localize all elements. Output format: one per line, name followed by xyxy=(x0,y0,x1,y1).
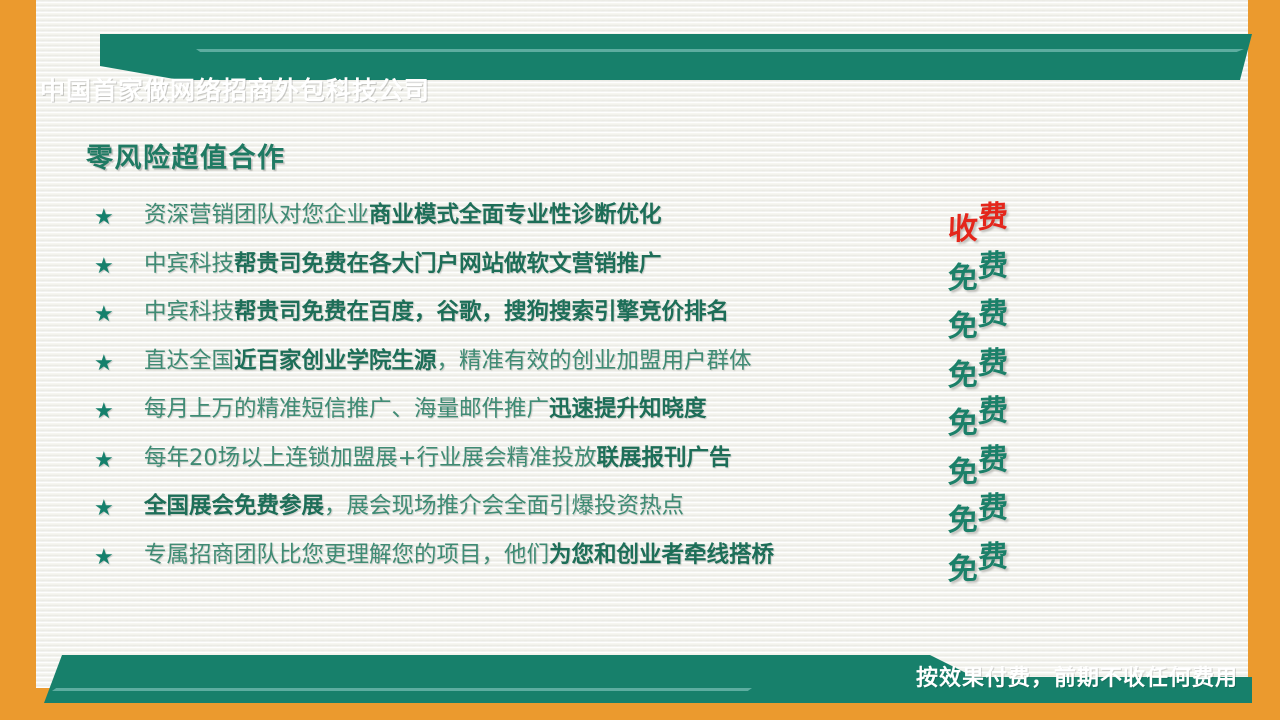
star-bullet-icon: ★ xyxy=(94,446,114,476)
text-bold-emphasis: 帮贵司免费在百度，谷歌，搜狗搜索引擎竞价排名 xyxy=(234,299,729,325)
text-normal-tail: ，展会现场推介会全面引爆投资热点 xyxy=(324,493,684,519)
list-item: ★ 直达全国近百家创业学院生源，精准有效的创业加盟用户群体 xyxy=(86,344,1086,393)
list-item: ★ 中宾科技帮贵司免费在各大门户网站做软文营销推广 xyxy=(86,247,1086,296)
text-normal-lead: 中宾科技 xyxy=(144,299,234,325)
list-item-text: 专属招商团队比您更理解您的项目，他们为您和创业者牵线搭桥 xyxy=(144,538,774,572)
price-char-second: 费 xyxy=(978,531,1009,577)
text-bold-emphasis: 帮贵司免费在各大门户网站做软文营销推广 xyxy=(234,251,662,277)
price-label-free: 免 费 xyxy=(944,338,1064,387)
list-item: ★ 全国展会免费参展，展会现场推介会全面引爆投资热点 xyxy=(86,489,1086,538)
text-bold-emphasis: 全国展会免费参展 xyxy=(144,493,324,519)
list-item: ★ 中宾科技帮贵司免费在百度，谷歌，搜狗搜索引擎竞价排名 xyxy=(86,295,1086,344)
price-label-free: 免 费 xyxy=(944,289,1064,338)
list-item-text: 中宾科技帮贵司免费在各大门户网站做软文营销推广 xyxy=(144,247,662,281)
star-bullet-icon: ★ xyxy=(94,494,114,524)
list-item-text: 直达全国近百家创业学院生源，精准有效的创业加盟用户群体 xyxy=(144,344,752,378)
price-label-free: 免 费 xyxy=(944,483,1064,532)
text-normal-tail: ，精准有效的创业加盟用户群体 xyxy=(437,348,752,374)
slide-root: 中国首家做网络招商外包科技公司 零风险超值合作 ★ 资深营销团队对您企业商业模式… xyxy=(0,0,1280,720)
text-bold-emphasis: 迅速提升知晓度 xyxy=(549,396,707,422)
list-item: ★ 每年20场以上连锁加盟展+行业展会精准投放联展报刊广告 xyxy=(86,441,1086,490)
text-bold-emphasis: 联展报刊广告 xyxy=(596,445,731,471)
list-item: ★ 专属招商团队比您更理解您的项目，他们为您和创业者牵线搭桥 xyxy=(86,538,1086,587)
list-item: ★ 资深营销团队对您企业商业模式全面专业性诊断优化 xyxy=(86,198,1086,247)
footer-accent-stripe xyxy=(52,688,752,691)
price-label-free: 免 费 xyxy=(944,386,1064,435)
text-normal-lead: 每月上万的精准短信推广、海量邮件推广 xyxy=(144,396,549,422)
section-title: 零风险超值合作 xyxy=(86,136,286,175)
list-item-text: 中宾科技帮贵司免费在百度，谷歌，搜狗搜索引擎竞价排名 xyxy=(144,295,729,329)
price-char-second: 费 xyxy=(978,482,1009,528)
price-char-second: 费 xyxy=(978,337,1009,383)
price-column: 收 费 免 费 免 费 免 费 免 费 免 费 免 费 免 费 xyxy=(944,192,1064,580)
text-bold-emphasis: 近百家创业学院生源 xyxy=(234,348,437,374)
star-bullet-icon: ★ xyxy=(94,252,114,282)
header-banner: 中国首家做网络招商外包科技公司 xyxy=(0,34,1280,80)
text-normal-lead: 直达全国 xyxy=(144,348,234,374)
price-label-free: 免 费 xyxy=(944,532,1064,581)
text-normal-lead: 中宾科技 xyxy=(144,251,234,277)
price-char-second: 费 xyxy=(978,434,1009,480)
text-bold-emphasis: 为您和创业者牵线搭桥 xyxy=(549,542,774,568)
price-char-second: 费 xyxy=(978,191,1009,237)
footer-banner: 按效果付费，前期不收任何费用 xyxy=(0,655,1280,703)
price-char-first: 免 xyxy=(947,543,979,588)
text-normal-lead: 每年20场以上连锁加盟展+行业展会精准投放 xyxy=(144,445,596,471)
price-char-second: 费 xyxy=(978,240,1009,286)
star-bullet-icon: ★ xyxy=(94,543,114,573)
header-accent-stripe xyxy=(196,49,1244,52)
star-bullet-icon: ★ xyxy=(94,349,114,379)
footer-text: 按效果付费，前期不收任何费用 xyxy=(916,659,1238,699)
star-bullet-icon: ★ xyxy=(94,397,114,427)
text-normal-lead: 资深营销团队对您企业 xyxy=(144,202,369,228)
price-label-free: 免 费 xyxy=(944,435,1064,484)
benefits-list: ★ 资深营销团队对您企业商业模式全面专业性诊断优化 ★ 中宾科技帮贵司免费在各大… xyxy=(86,198,1086,586)
list-item-text: 每月上万的精准短信推广、海量邮件推广迅速提升知晓度 xyxy=(144,392,707,426)
price-label-paid: 收 费 xyxy=(944,192,1064,241)
star-bullet-icon: ★ xyxy=(94,300,114,330)
list-item-text: 每年20场以上连锁加盟展+行业展会精准投放联展报刊广告 xyxy=(144,441,732,475)
price-label-free: 免 费 xyxy=(944,241,1064,290)
text-bold-emphasis: 商业模式全面专业性诊断优化 xyxy=(369,202,662,228)
price-char-second: 费 xyxy=(978,288,1009,334)
price-char-second: 费 xyxy=(978,385,1009,431)
list-item-text: 全国展会免费参展，展会现场推介会全面引爆投资热点 xyxy=(144,489,684,523)
list-item-text: 资深营销团队对您企业商业模式全面专业性诊断优化 xyxy=(144,198,662,232)
header-title: 中国首家做网络招商外包科技公司 xyxy=(40,70,430,112)
list-item: ★ 每月上万的精准短信推广、海量邮件推广迅速提升知晓度 xyxy=(86,392,1086,441)
text-normal-lead: 专属招商团队比您更理解您的项目，他们 xyxy=(144,542,549,568)
star-bullet-icon: ★ xyxy=(94,203,114,233)
